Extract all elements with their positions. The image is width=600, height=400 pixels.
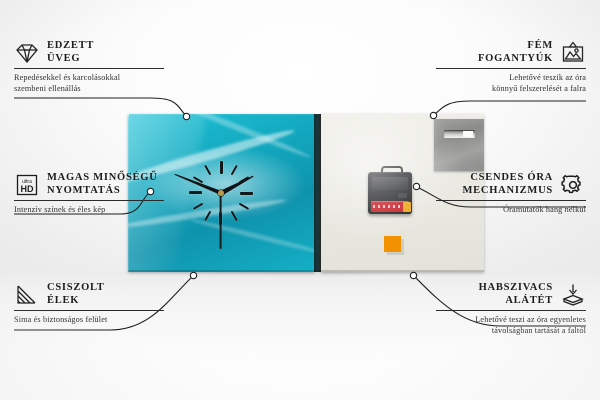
callout-subtitle: Lehetővé teszi az óra egyenletes távolsá… — [436, 314, 586, 336]
callout-header: EDZETT ÜVEG — [14, 40, 164, 65]
callout-metal-handles[interactable]: FÉM FOGANTYÚK Lehetővé teszik az óra kön… — [436, 40, 586, 94]
callout-rule — [436, 68, 586, 69]
callout-title: EDZETT ÜVEG — [47, 40, 94, 65]
callout-header: CSENDES ÓRA MECHANIZMUS — [436, 172, 586, 197]
hanger-slot — [444, 130, 475, 138]
bevelled-edge-icon — [14, 283, 40, 307]
hanging-frame-icon — [560, 41, 586, 65]
callout-rule — [436, 310, 586, 311]
callout-subtitle: Intenzív színek és éles kép — [14, 204, 164, 215]
callout-subtitle: Óramutatók hang nélkül — [436, 204, 586, 215]
foam-spacer-pad — [384, 236, 401, 252]
callout-title: MAGAS MINŐSÉGŰ NYOMTATÁS — [47, 172, 158, 197]
callout-rule — [14, 68, 164, 69]
clock-mechanism — [368, 166, 412, 214]
foam-pad-arrow-icon — [560, 283, 586, 307]
mechanism-loop — [381, 166, 403, 178]
ultra-hd-icon: ultra HD — [14, 173, 40, 197]
callout-subtitle: Lehetővé teszik az óra könnyű felszerelé… — [436, 72, 586, 94]
product-base-line — [128, 270, 484, 272]
callout-header: CSISZOLT ÉLEK — [14, 282, 164, 307]
mechanism-label — [371, 201, 409, 212]
svg-text:HD: HD — [21, 184, 34, 194]
callout-rule — [14, 310, 164, 311]
panel-edge — [314, 114, 321, 272]
callout-rule — [14, 200, 164, 201]
second-hand — [220, 193, 222, 249]
callout-title: FÉM FOGANTYÚK — [478, 40, 553, 65]
callout-high-quality-print[interactable]: ultra HD MAGAS MINŐSÉGŰ NYOMTATÁS Intenz… — [14, 172, 164, 215]
gear-icon — [560, 173, 586, 197]
infographic-canvas: EDZETT ÜVEG Repedésekkel és karcolásokka… — [0, 0, 600, 400]
callout-subtitle: Repedésekkel és karcolásokkal szembeni e… — [14, 72, 164, 94]
callout-tempered-glass[interactable]: EDZETT ÜVEG Repedésekkel és karcolásokka… — [14, 40, 164, 94]
hand-cap — [218, 190, 224, 196]
callout-title: CSISZOLT ÉLEK — [47, 282, 105, 307]
product-photo — [128, 114, 484, 272]
callout-silent-mechanism[interactable]: CSENDES ÓRA MECHANIZMUS Óramutatók hang … — [436, 172, 586, 215]
callout-header: HABSZIVACS ALÁTÉT — [436, 282, 586, 307]
callout-rule — [436, 200, 586, 201]
diamond-icon — [14, 41, 40, 65]
battery-polarity-mark — [403, 202, 411, 212]
callout-title: CSENDES ÓRA MECHANIZMUS — [462, 172, 553, 197]
mechanism-body — [368, 172, 412, 214]
metal-hanger-plate — [434, 119, 484, 171]
callout-subtitle: Sima és biztonságos felület — [14, 314, 164, 325]
callout-title: HABSZIVACS ALÁTÉT — [479, 282, 553, 307]
callout-header: ultra HD MAGAS MINŐSÉGŰ NYOMTATÁS — [14, 172, 164, 197]
callout-foam-underlay[interactable]: HABSZIVACS ALÁTÉT Lehetővé teszi az óra … — [436, 282, 586, 336]
callout-header: FÉM FOGANTYÚK — [436, 40, 586, 65]
callout-polished-edges[interactable]: CSISZOLT ÉLEK Sima és biztonságos felüle… — [14, 282, 164, 325]
